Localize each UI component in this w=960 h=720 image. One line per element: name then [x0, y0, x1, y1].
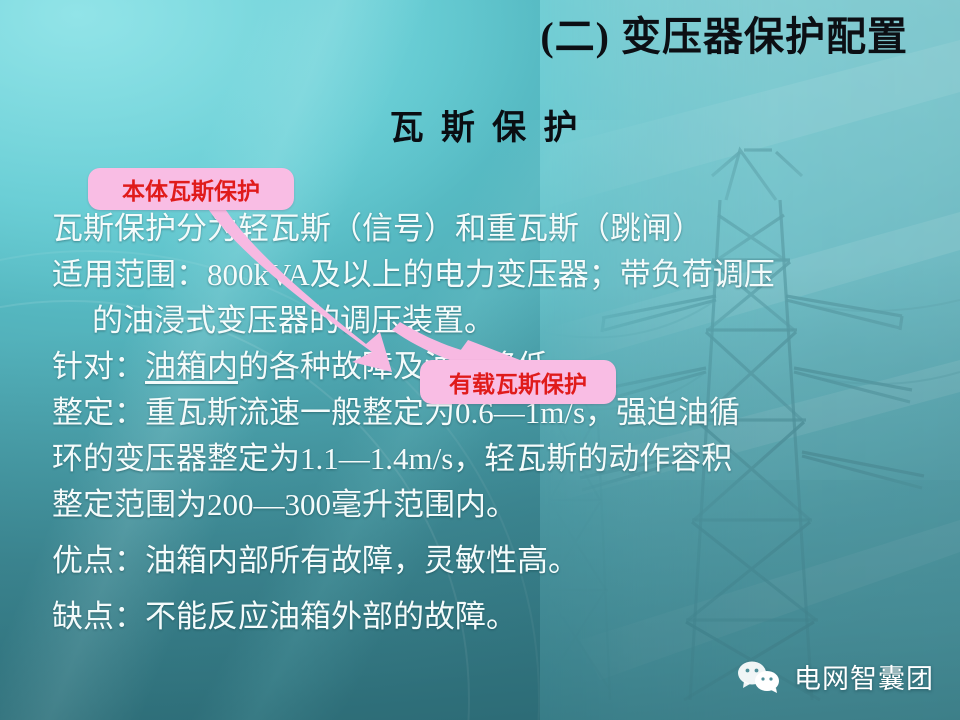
watermark-text: 电网智囊团 [794, 657, 934, 696]
section-subtitle: 瓦斯保护 [0, 100, 960, 149]
body-line: 整定范围为200—300毫升范围内。 [52, 482, 920, 528]
watermark: 电网智囊团 [736, 657, 934, 696]
callout-body-gas-protection[interactable]: 本体瓦斯保护 [88, 168, 294, 210]
body-text-block: 瓦斯保护分为轻瓦斯（信号）和重瓦斯（跳闸） 适用范围：800kVA及以上的电力变… [52, 206, 920, 640]
subtitle-char-4: 护 [543, 109, 580, 147]
body-line: 的油浸式变压器的调压装置。 [52, 298, 920, 344]
body-line: 适用范围：800kVA及以上的电力变压器；带负荷调压 [52, 252, 920, 298]
underlined-term: 油箱内 [145, 349, 238, 384]
body-line: 缺点：不能反应油箱外部的故障。 [52, 594, 920, 640]
page-title: (二) 变压器保护配置 [0, 14, 908, 60]
subtitle-char-1: 瓦 [390, 109, 427, 147]
subtitle-char-2: 斯 [441, 109, 478, 147]
callout-oltc-gas-protection[interactable]: 有载瓦斯保护 [420, 360, 616, 404]
body-line: 瓦斯保护分为轻瓦斯（信号）和重瓦斯（跳闸） [52, 206, 920, 252]
subtitle-char-3: 保 [492, 109, 529, 147]
slide-canvas: (二) 变压器保护配置 瓦斯保护 瓦斯保护分为轻瓦斯（信号）和重瓦斯（跳闸） 适… [0, 0, 960, 720]
body-line: 环的变压器整定为1.1—1.4m/s，轻瓦斯的动作容积 [52, 436, 920, 482]
wechat-icon [736, 660, 782, 694]
body-line: 优点：油箱内部所有故障，灵敏性高。 [52, 538, 920, 584]
slide-content: (二) 变压器保护配置 瓦斯保护 瓦斯保护分为轻瓦斯（信号）和重瓦斯（跳闸） 适… [0, 0, 960, 720]
